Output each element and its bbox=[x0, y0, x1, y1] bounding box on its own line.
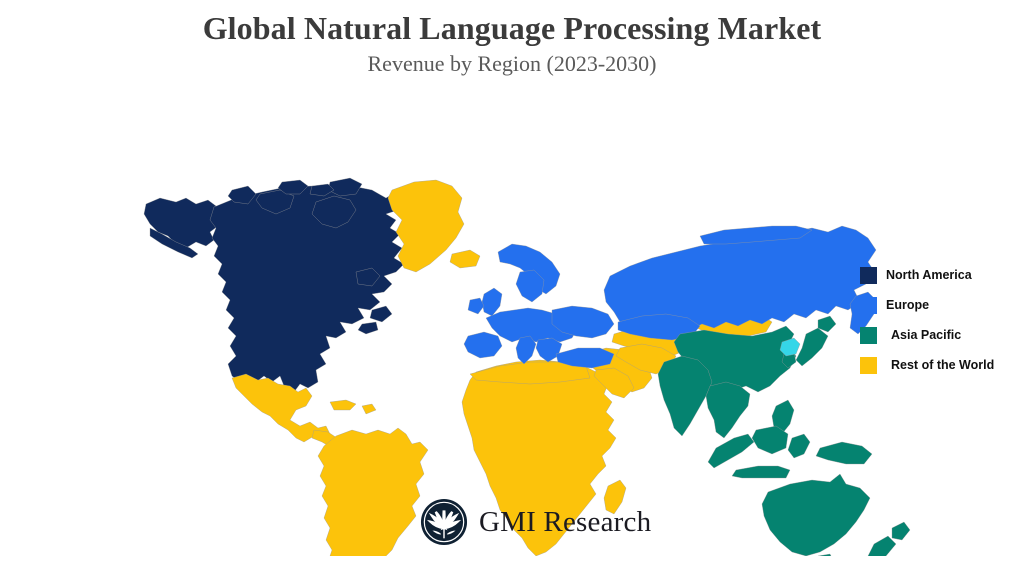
country-iceland bbox=[450, 250, 480, 268]
page-title: Global Natural Language Processing Marke… bbox=[0, 10, 1024, 47]
legend-swatch-europe bbox=[860, 297, 877, 314]
country-australia bbox=[762, 474, 870, 556]
legend-label-north-america: North America bbox=[886, 268, 972, 282]
country-ireland bbox=[468, 298, 484, 314]
region-southeast-asia-mainland bbox=[706, 382, 750, 438]
country-indonesia-sumatra bbox=[708, 434, 754, 468]
country-japan bbox=[796, 328, 828, 366]
country-canada-usa-mainland bbox=[210, 186, 404, 392]
brand-logo: GMI Research bbox=[420, 498, 651, 546]
country-spain-portugal bbox=[464, 332, 502, 358]
legend-item-asia-pacific[interactable]: Asia Pacific bbox=[860, 320, 1020, 350]
japan-hokkaido bbox=[818, 316, 836, 332]
brand-logo-text: GMI Research bbox=[479, 506, 651, 539]
legend-item-rest-of-the-world[interactable]: Rest of the World bbox=[860, 350, 1020, 380]
country-new-zealand-north bbox=[892, 522, 910, 540]
country-sulawesi bbox=[788, 434, 810, 458]
legend-swatch-north-america bbox=[860, 267, 877, 284]
legend-label-europe: Europe bbox=[886, 298, 929, 312]
country-borneo bbox=[752, 426, 788, 454]
legend-swatch-rest-of-the-world bbox=[860, 357, 877, 374]
legend-item-north-america[interactable]: North America bbox=[860, 260, 1020, 290]
country-italy bbox=[516, 336, 536, 364]
caribbean-islands bbox=[330, 400, 376, 414]
region-north-america bbox=[144, 178, 404, 392]
continent-south-america bbox=[318, 428, 428, 556]
legend-swatch-asia-pacific bbox=[860, 327, 877, 344]
country-united-kingdom bbox=[482, 288, 502, 316]
country-papua-new-guinea bbox=[816, 442, 872, 464]
country-new-zealand-south bbox=[868, 536, 896, 556]
country-alaska bbox=[144, 198, 222, 248]
country-java bbox=[732, 466, 790, 478]
legend-label-rest-of-the-world: Rest of the World bbox=[891, 358, 994, 372]
page-subtitle: Revenue by Region (2023-2030) bbox=[0, 51, 1024, 77]
map-legend: North America Europe Asia Pacific Rest o… bbox=[860, 260, 1020, 380]
country-tasmania bbox=[816, 554, 834, 556]
legend-item-europe[interactable]: Europe bbox=[860, 290, 1020, 320]
nova-scotia bbox=[358, 322, 378, 334]
country-india bbox=[658, 356, 712, 436]
legend-label-asia-pacific: Asia Pacific bbox=[891, 328, 961, 342]
gmi-palm-emblem-icon bbox=[420, 498, 468, 546]
chart-header: Global Natural Language Processing Marke… bbox=[0, 0, 1024, 77]
newfoundland bbox=[370, 306, 392, 322]
